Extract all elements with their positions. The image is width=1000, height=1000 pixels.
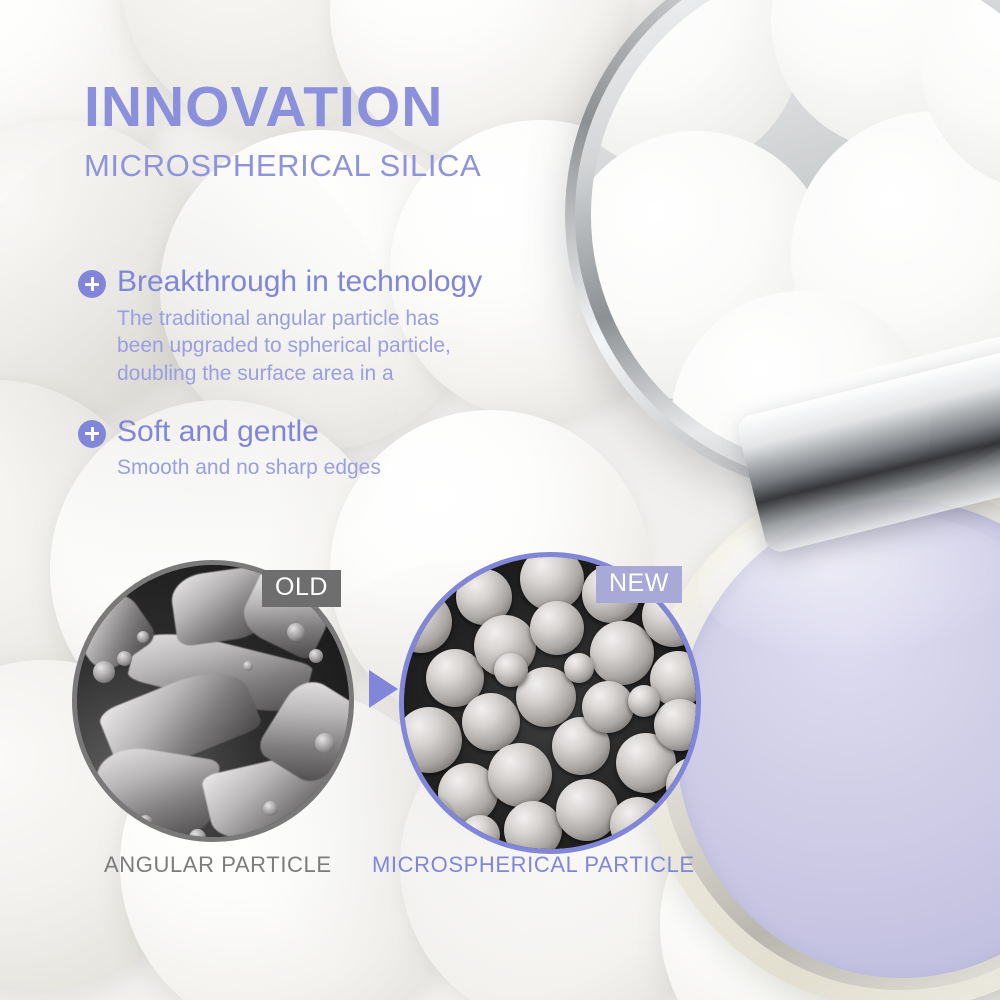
feature-list: Breakthrough in technology The tradition… [78, 262, 598, 482]
feature-body: Smooth and no sharp edges [117, 454, 598, 482]
feature-item: Soft and gentle Smooth and no sharp edge… [78, 412, 598, 482]
page-title: INNOVATION [84, 78, 604, 138]
page-subtitle: MICROSPHERICAL SILICA [84, 148, 604, 184]
particle-comparison: OLD NEW ANGULAR PARTICLE MICROSPHERICAL … [72, 552, 712, 902]
feature-title: Soft and gentle [117, 412, 319, 453]
feature-item: Breakthrough in technology The tradition… [78, 262, 598, 388]
marketing-banner: INNOVATION MICROSPHERICAL SILICA Breakth… [0, 0, 1000, 1000]
status-badge-old: OLD [262, 570, 341, 607]
plus-circle-icon [78, 420, 106, 448]
arrow-right-triangle-icon [369, 670, 398, 708]
status-badge-new: NEW [596, 566, 682, 603]
caption-new: MICROSPHERICAL PARTICLE [372, 852, 695, 878]
headline-block: INNOVATION MICROSPHERICAL SILICA [84, 78, 604, 184]
feature-body: The traditional angular particle has bee… [117, 305, 598, 388]
caption-old: ANGULAR PARTICLE [104, 852, 332, 878]
plus-circle-icon [78, 270, 106, 298]
feature-title: Breakthrough in technology [117, 262, 482, 303]
